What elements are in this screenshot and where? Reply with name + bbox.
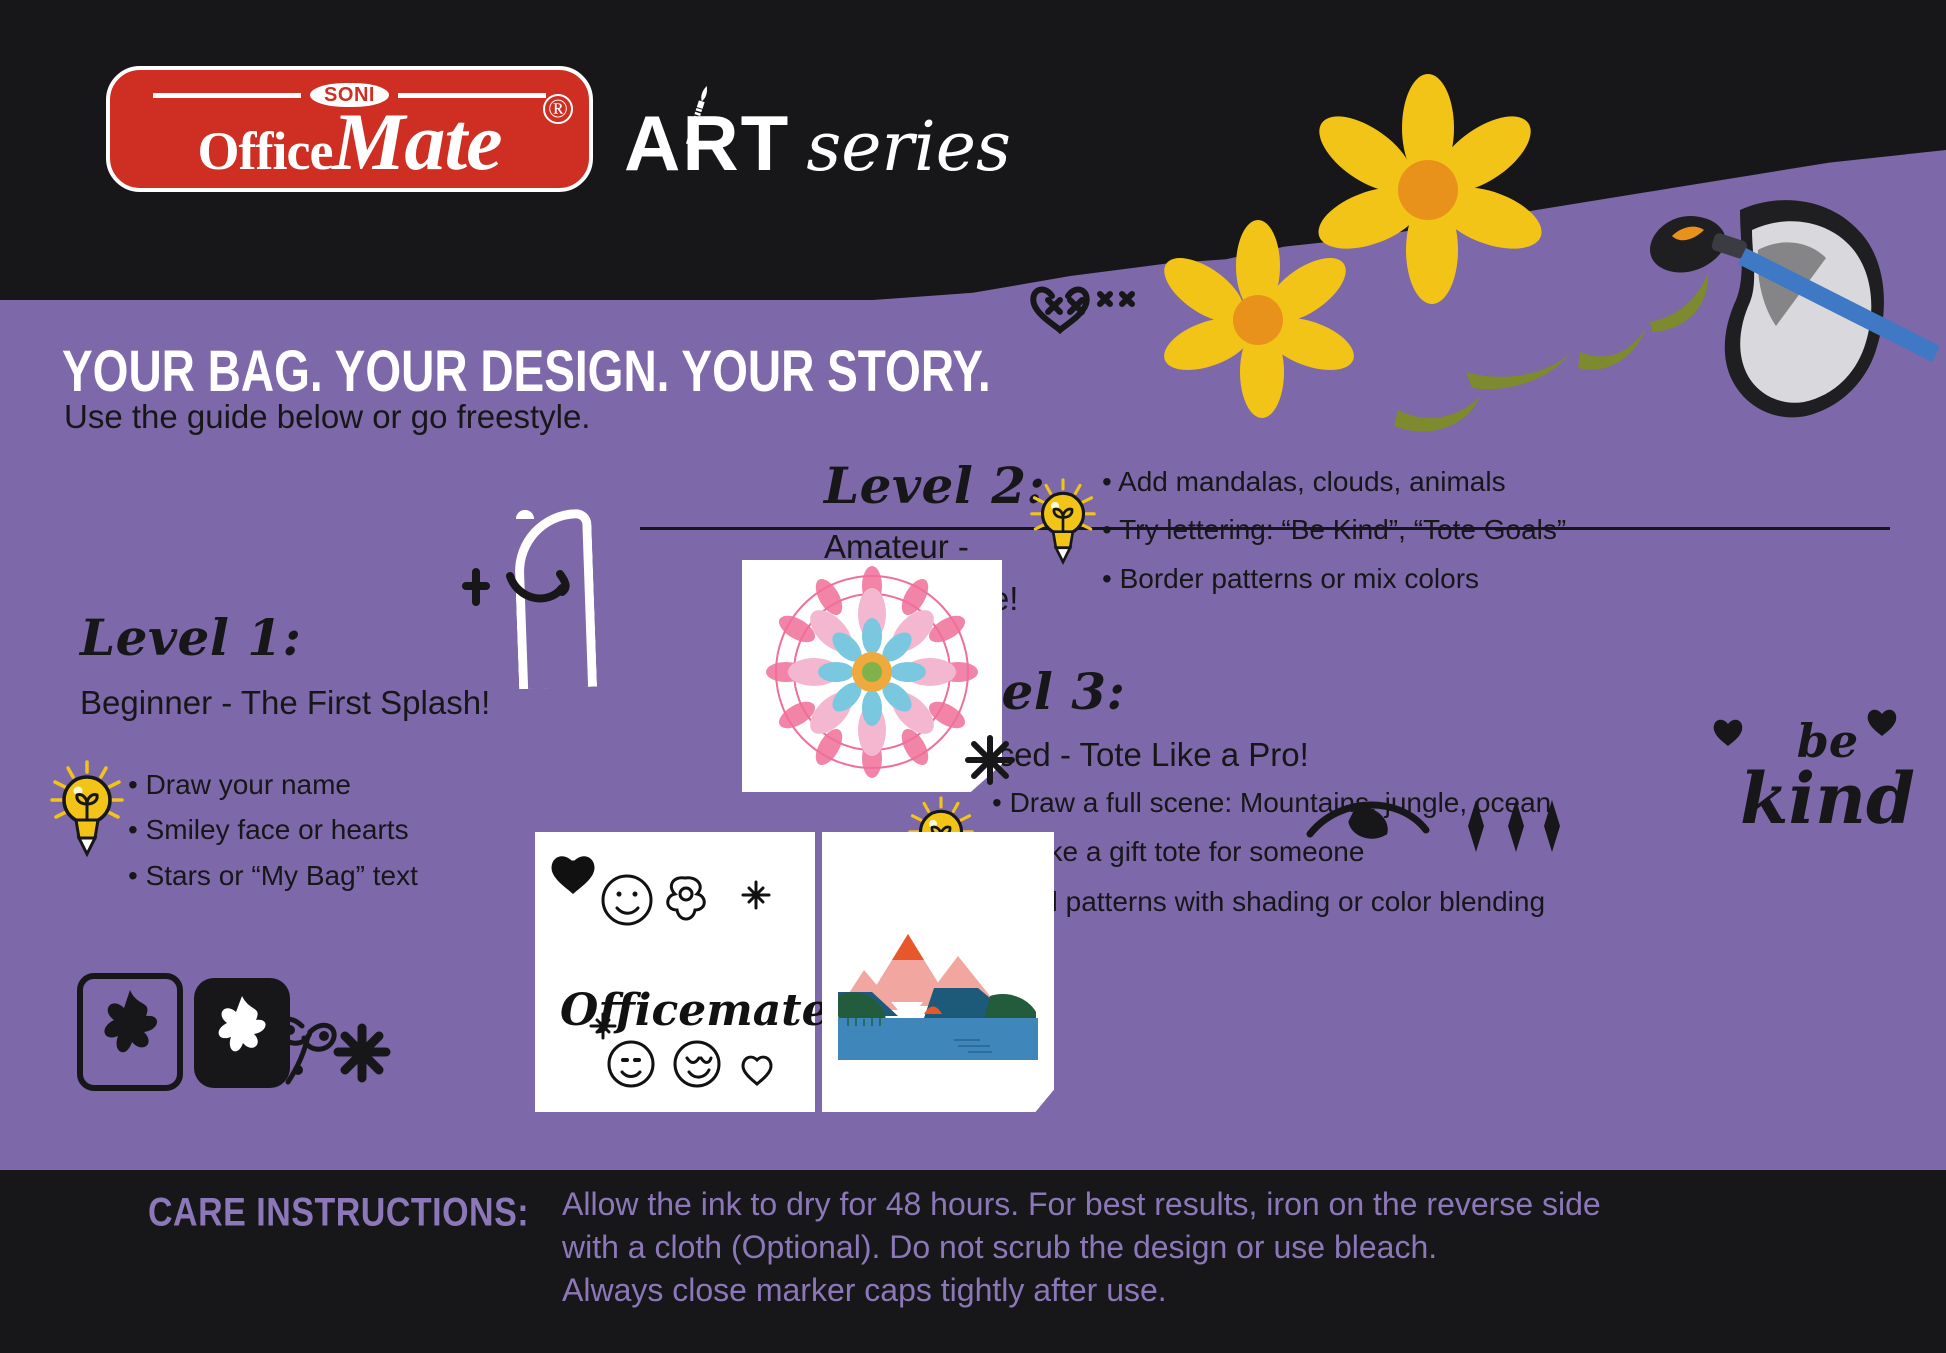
flowers-and-hand-illustration <box>1180 140 1940 470</box>
brand-logo: SONI OfficeMate ® <box>106 66 593 192</box>
list-item: • Smiley face or hearts <box>128 807 418 852</box>
flower-stamps-doodle <box>74 966 394 1116</box>
list-item: • Add patterns with shading or color ble… <box>992 877 1551 926</box>
logo-mate-text: Mate <box>332 103 501 181</box>
tiny-hearts-doodle <box>1712 700 1912 760</box>
art-word: ART <box>624 104 790 182</box>
logo-top-rule: SONI <box>153 85 546 105</box>
page-title: YOUR BAG. YOUR DESIGN. YOUR STORY. <box>62 336 991 405</box>
care-instructions-text: Allow the ink to dry for 48 hours. For b… <box>562 1183 1601 1312</box>
logo-rule-right <box>398 93 546 98</box>
care-line-1: Allow the ink to dry for 48 hours. For b… <box>562 1183 1601 1226</box>
paintbrush-icon <box>687 56 707 176</box>
list-item: • Add mandalas, clouds, animals <box>1102 458 1566 506</box>
doodle-artwork <box>535 832 815 1112</box>
list-item: • Border patterns or mix colors <box>1102 555 1566 603</box>
list-item: • Draw your name <box>128 762 418 807</box>
lightbulb-pencil-icon <box>50 760 124 856</box>
poster-canvas: SONI OfficeMate ® ART series <box>0 0 1946 1353</box>
registered-trademark-icon: ® <box>543 94 573 124</box>
logo-soni-oval: SONI <box>310 83 389 107</box>
lightbulb-pencil-icon <box>1030 478 1096 564</box>
be-kind-kind-text: kind <box>1740 766 1915 833</box>
level-1-bullet-list: • Draw your name • Smiley face or hearts… <box>128 762 418 898</box>
level-1-block: Level 1: Beginner - The First Splash! <box>80 608 490 723</box>
art-series-lockup: ART series <box>624 92 1011 182</box>
eye-and-sparkles-doodle <box>1300 788 1560 868</box>
level-2-title: Level 2: <box>824 456 1045 515</box>
sparkle-doodle <box>960 730 1020 790</box>
level-2-bullet-list: • Add mandalas, clouds, animals • Try le… <box>1102 458 1566 603</box>
care-line-3: Always close marker caps tightly after u… <box>562 1269 1601 1312</box>
level-1-title: Level 1: <box>80 608 490 667</box>
page-subtitle: Use the guide below or go freestyle. <box>64 398 590 436</box>
care-line-2: with a cloth (Optional). Do not scrub th… <box>562 1226 1601 1269</box>
bag-brand-script: Officemate <box>560 985 830 1036</box>
care-instructions-label: CARE INSTRUCTIONS: <box>148 1190 529 1236</box>
list-item: • Stars or “My Bag” text <box>128 853 418 898</box>
cross-and-swoosh-doodle <box>462 562 592 632</box>
logo-office-text: Office <box>198 126 333 177</box>
level-1-subtitle: Beginner - The First Splash! <box>80 683 490 723</box>
logo-rule-left <box>153 93 301 98</box>
logo-wordmark: OfficeMate <box>198 103 502 181</box>
series-word: series <box>806 114 1011 182</box>
mountain-scene-artwork <box>838 930 1038 1060</box>
heart-doodle <box>1030 276 1160 336</box>
list-item: • Try lettering: “Be Kind”, “Tote Goals” <box>1102 506 1566 554</box>
